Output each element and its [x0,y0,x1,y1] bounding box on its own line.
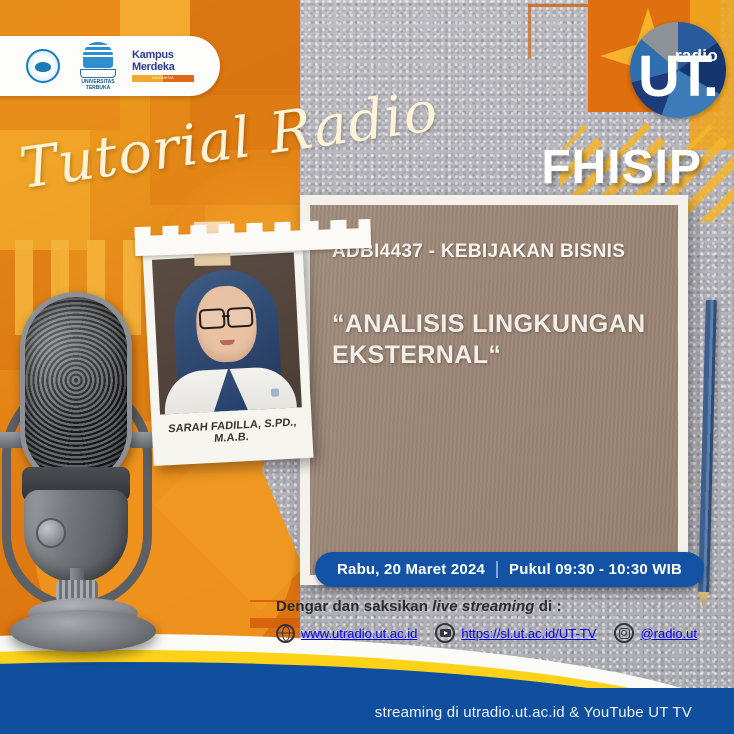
microphone-grille [20,292,132,487]
kampus-merdeka-logo: Kampus Merdeka INDONESIA [132,50,194,82]
decor-line [528,4,531,58]
ut-book-icon [80,69,116,78]
ut-radio-logo-sub: radio [675,46,718,66]
schedule-separator [496,561,498,578]
kampus-merdeka-line2: Merdeka [132,62,194,74]
listen-heading-emphasis: live streaming [432,598,534,615]
instagram-icon [614,623,634,643]
glasses-icon [199,307,254,327]
institution-logo-bar: UNIVERSITAS TERBUKA Kampus Merdeka INDON… [0,36,220,96]
ut-emblem-icon [83,42,113,68]
kampus-merdeka-line1: Kampus [132,50,194,62]
board-frame: ADBI4437 - KEBIJAKAN BISNIS “ANALISIS LI… [300,195,688,585]
tut-wuri-handayani-icon [26,49,60,83]
website-link-label: www.utradio.ut.ac.id [301,626,417,641]
youtube-icon [435,623,455,643]
kampus-merdeka-tagline: INDONESIA [132,75,194,82]
footer-streaming-text: streaming di utradio.ut.ac.id & YouTube … [0,704,734,721]
speaker-photo [152,252,302,414]
speaker-polaroid: SARAH FADILLA, S.PD., M.A.B. [142,243,313,466]
schedule-date: Rabu, 20 Maret 2024 [337,561,485,578]
youtube-link-label: https://sl.ut.ac.id/UT-TV [461,626,596,641]
session-topic: “ANALISIS LINGKUNGAN EKSTERNAL“ [332,309,668,370]
faculty-heading: FHISIP [541,140,702,195]
youtube-link[interactable]: https://sl.ut.ac.id/UT-TV [435,623,596,643]
schedule-badge: Rabu, 20 Maret 2024 Pukul 09:30 - 10:30 … [315,552,704,587]
microphone-knob [36,518,66,548]
instagram-link[interactable]: @radio.ut [614,623,697,643]
schedule-time: Pukul 09:30 - 10:30 WIB [509,561,682,578]
ut-radio-logo: UT. radio [630,22,726,118]
instagram-link-label: @radio.ut [640,626,697,641]
kemdikbud-logo [22,49,64,83]
listen-heading: Dengar dan saksikan live streaming di : [276,598,697,615]
announcement-board: ADBI4437 - KEBIJAKAN BISNIS “ANALISIS LI… [300,195,688,585]
listen-info-block: Dengar dan saksikan live streaming di : … [276,598,697,643]
website-link[interactable]: www.utradio.ut.ac.id [276,624,417,643]
jacket-badge [271,388,279,396]
speaker-name: SARAH FADILLA, S.PD., M.A.B. [160,416,303,448]
globe-icon [276,624,295,643]
listen-links-row: www.utradio.ut.ac.id https://sl.ut.ac.id… [276,623,697,643]
microphone-base [10,610,156,652]
universitas-terbuka-logo: UNIVERSITAS TERBUKA [77,42,119,91]
course-code: ADBI4437 - KEBIJAKAN BISNIS [332,241,668,263]
listen-heading-before: Dengar dan saksikan [276,598,432,615]
listen-heading-after: di : [535,598,562,615]
ut-logo-caption: UNIVERSITAS TERBUKA [77,79,119,91]
poster-canvas: UNIVERSITAS TERBUKA Kampus Merdeka INDON… [0,0,734,734]
board-text-group: ADBI4437 - KEBIJAKAN BISNIS “ANALISIS LI… [332,241,668,370]
microphone-illustration [0,292,172,664]
